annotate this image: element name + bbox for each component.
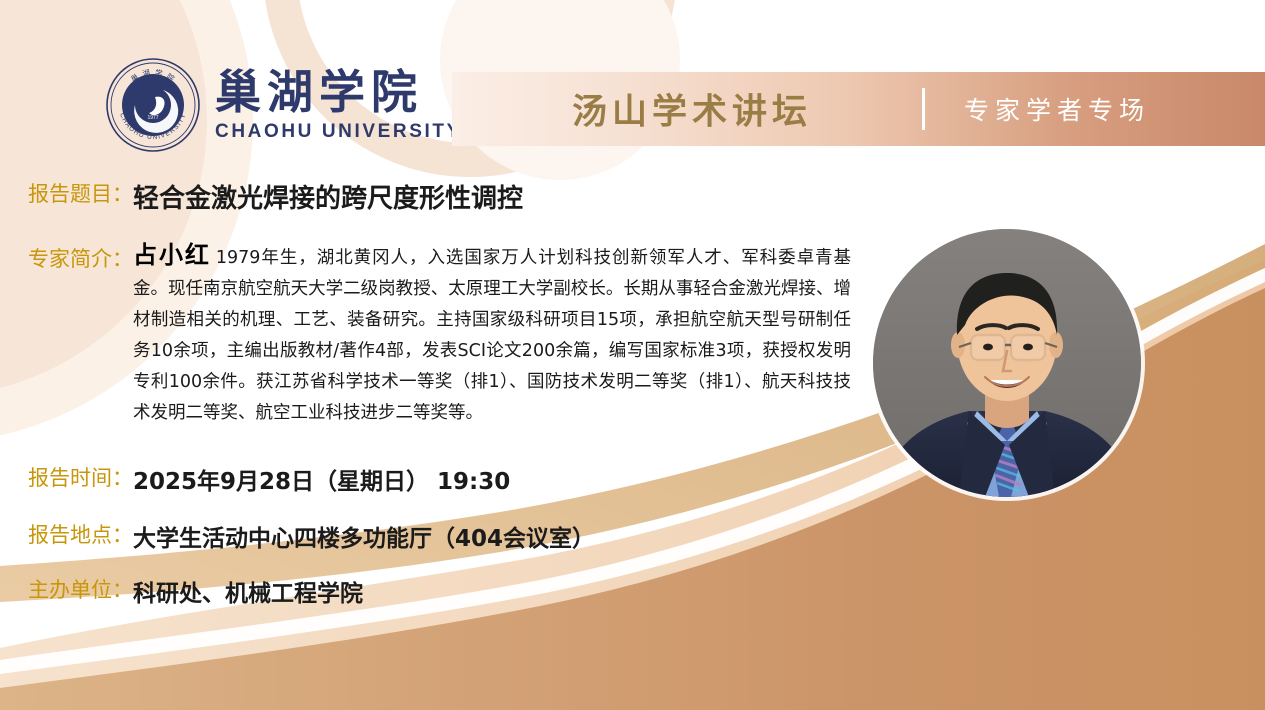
banner-title: 汤山学术讲坛	[572, 84, 812, 135]
expert-bio-body: 占小红1979年生，湖北黄冈人，入选国家万人计划科技创新领军人才、军科委卓青基金…	[133, 240, 851, 429]
report-host-row: 主办单位： 科研处、机械工程学院	[28, 574, 363, 608]
header-banner: 汤山学术讲坛 专家学者专场	[452, 72, 1265, 146]
report-title-value: 轻合金激光焊接的跨尺度形性调控	[133, 178, 523, 215]
report-title-label: 报告题目：	[28, 178, 133, 208]
report-title-row: 报告题目： 轻合金激光焊接的跨尺度形性调控	[28, 178, 523, 215]
report-time-value: 2025年9月28日（星期日） 19:30	[133, 462, 510, 496]
report-time-label: 报告时间：	[28, 462, 133, 492]
expert-name: 占小红	[133, 241, 211, 269]
university-name-en: CHAOHU UNIVERSITY	[215, 122, 462, 141]
university-seal-icon: 1977 巢 湖 学 院 CHAOHU UNIVERSITY	[105, 57, 201, 153]
speaker-portrait-image	[873, 229, 1141, 497]
report-place-row: 报告地点： 大学生活动中心四楼多功能厅（404会议室）	[28, 519, 595, 553]
report-host-label: 主办单位：	[28, 574, 133, 604]
expert-bio-text: 1979年生，湖北黄冈人，入选国家万人计划科技创新领军人才、军科委卓青基金。现任…	[133, 248, 851, 423]
university-name-block: 巢湖学院 CHAOHU UNIVERSITY	[215, 69, 462, 141]
speaker-portrait	[873, 229, 1141, 497]
report-place-value: 大学生活动中心四楼多功能厅（404会议室）	[133, 519, 595, 553]
report-place-label: 报告地点：	[28, 519, 133, 549]
banner-subtitle: 专家学者专场	[964, 91, 1150, 127]
svg-text:1977: 1977	[147, 115, 158, 121]
banner-divider	[922, 88, 925, 130]
poster-root: 1977 巢 湖 学 院 CHAOHU UNIVERSITY 巢湖学院 CHAO…	[0, 0, 1265, 710]
university-name-cn: 巢湖学院	[215, 69, 462, 115]
report-host-value: 科研处、机械工程学院	[133, 574, 363, 608]
report-time-row: 报告时间： 2025年9月28日（星期日） 19:30	[28, 462, 510, 496]
expert-bio-label: 专家简介：	[28, 240, 133, 273]
expert-bio-row: 专家简介： 占小红1979年生，湖北黄冈人，入选国家万人计划科技创新领军人才、军…	[28, 240, 873, 429]
university-logo: 1977 巢 湖 学 院 CHAOHU UNIVERSITY 巢湖学院 CHAO…	[105, 52, 465, 157]
